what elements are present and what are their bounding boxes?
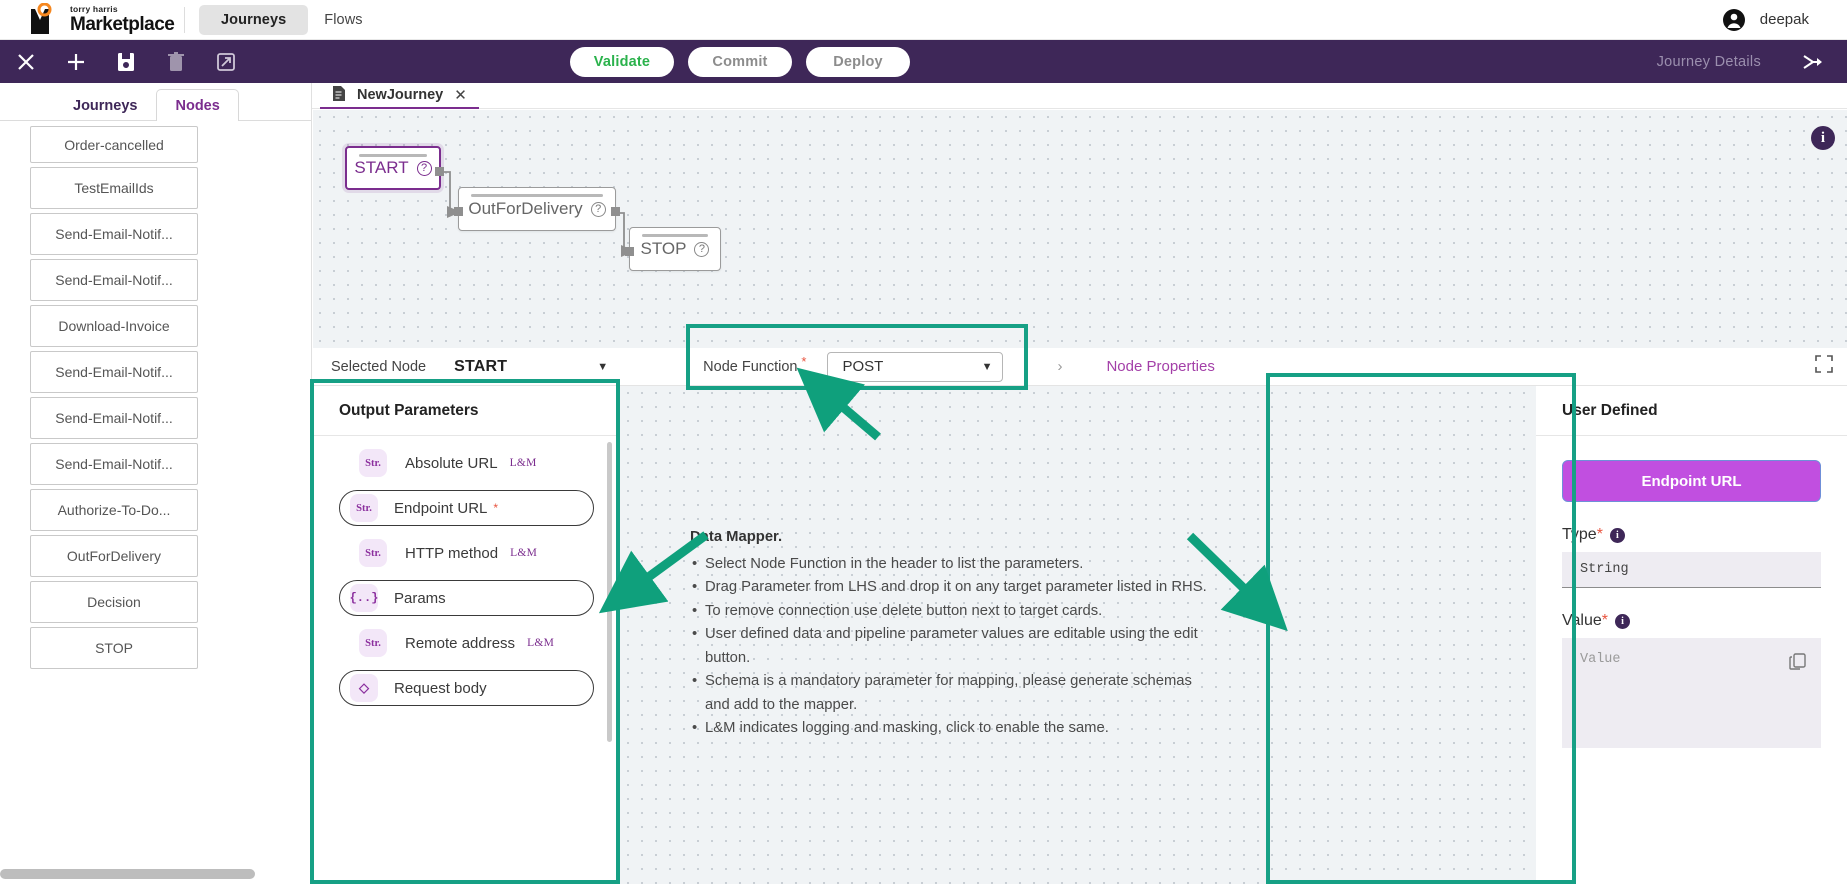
journey-details-label[interactable]: Journey Details (1657, 54, 1761, 70)
question-mark-icon[interactable]: ? (417, 161, 432, 176)
username-label: deepak (1760, 11, 1809, 28)
list-item[interactable]: Send-Email-Notif... (30, 351, 198, 393)
chevron-down-icon[interactable]: ▼ (597, 361, 608, 373)
list-item[interactable]: Send-Email-Notif... (30, 259, 198, 301)
parameter-row-http-method[interactable]: Str. HTTP method L&M (313, 536, 616, 570)
nav-divider (184, 7, 185, 33)
data-mapper-bullet: To remove connection use delete button n… (690, 600, 1220, 624)
selected-node-label: Selected Node (331, 359, 426, 375)
toolbar-action-buttons: Validate Commit Deploy (570, 47, 910, 77)
list-item[interactable]: Send-Email-Notif... (30, 213, 198, 255)
close-icon[interactable] (14, 50, 38, 74)
validate-button[interactable]: Validate (570, 47, 674, 77)
data-mapper-bullet: User defined data and pipeline parameter… (690, 623, 1220, 670)
toolbar-icon-group (14, 50, 238, 74)
app-root: torry harris Marketplace Journeys Flows … (0, 0, 1847, 884)
journey-toolbar: Validate Commit Deploy Journey Details (0, 40, 1847, 83)
endpoint-url-button[interactable]: Endpoint URL (1562, 460, 1821, 502)
tab-label: NewJourney (357, 87, 443, 103)
list-item[interactable]: OutForDelivery (30, 535, 198, 577)
logging-masking-badge[interactable]: L&M (527, 637, 554, 649)
required-asterisk: * (801, 354, 806, 369)
data-mapper-bullet: L&M indicates logging and masking, click… (690, 717, 1220, 741)
list-item[interactable]: Download-Invoice (30, 305, 198, 347)
list-item[interactable]: Authorize-To-Do... (30, 489, 198, 531)
value-textarea[interactable]: Value (1562, 638, 1821, 748)
output-parameters-list[interactable]: Str. Absolute URL L&M Str. Endpoint URL … (313, 436, 616, 884)
output-parameters-scrollbar[interactable] (607, 442, 612, 742)
node-drag-handle[interactable] (359, 154, 427, 157)
list-item[interactable]: Send-Email-Notif... (30, 443, 198, 485)
parameter-name: Remote address (405, 635, 515, 652)
node-label: STOP (641, 239, 687, 259)
flow-node-stop[interactable]: STOP ? (629, 227, 721, 271)
value-label-text: Value (1562, 612, 1602, 630)
required-asterisk: * (1602, 612, 1608, 630)
data-mapper-bullet-list: Select Node Function in the header to li… (690, 553, 1220, 741)
brand-text: torry harris Marketplace (70, 5, 174, 34)
sidebar-horizontal-scrollbar[interactable] (0, 869, 300, 879)
node-input-port[interactable] (625, 247, 634, 256)
nav-tab-flows[interactable]: Flows (308, 5, 384, 35)
parameter-row-endpoint-url[interactable]: Str. Endpoint URL * (339, 490, 594, 526)
data-mapper-bullet: Select Node Function in the header to li… (690, 553, 1220, 577)
mapper-workspace: Output Parameters Str. Absolute URL L&M … (313, 386, 1847, 884)
selected-node-value: START (454, 358, 507, 376)
node-output-port[interactable] (435, 167, 444, 176)
commit-button[interactable]: Commit (688, 47, 792, 77)
parameter-name: Endpoint URL (394, 500, 487, 517)
document-icon (332, 85, 346, 106)
list-item[interactable]: Decision (30, 581, 198, 623)
data-mapper-title: Data Mapper. (690, 526, 1220, 550)
required-asterisk: * (493, 501, 498, 515)
top-navigation-bar: torry harris Marketplace Journeys Flows … (0, 0, 1847, 40)
list-item[interactable]: Order-cancelled (30, 126, 198, 163)
question-mark-icon[interactable]: ? (694, 242, 709, 257)
export-icon[interactable] (214, 50, 238, 74)
left-sidebar: Journeys Nodes Order-cancelled TestEmail… (0, 83, 312, 884)
parameter-name: Absolute URL (405, 455, 498, 472)
logging-masking-badge[interactable]: L&M (510, 457, 537, 469)
list-item[interactable]: STOP (30, 627, 198, 669)
parameter-row-params[interactable]: {..} Params (339, 580, 594, 616)
user-area: deepak (1722, 8, 1809, 32)
brand-subtitle: torry harris (70, 5, 174, 14)
flow-node-outfordelivery[interactable]: OutForDelivery ? (458, 187, 616, 231)
selected-node-bar: Selected Node START ▼ Node Function * PO… (313, 348, 1847, 386)
merge-arrows-icon[interactable] (1801, 50, 1825, 74)
node-label: OutForDelivery (468, 199, 582, 219)
node-drag-handle[interactable] (471, 194, 603, 197)
add-icon[interactable] (64, 50, 88, 74)
brand-logo[interactable]: torry harris Marketplace (28, 3, 178, 37)
parameter-name: Params (394, 590, 446, 607)
parameter-name: HTTP method (405, 545, 498, 562)
parameter-row-remote-address[interactable]: Str. Remote address L&M (313, 626, 616, 660)
info-icon[interactable]: i (1610, 528, 1625, 543)
type-badge-string: Str. (359, 629, 387, 657)
brand-title: Marketplace (70, 15, 174, 34)
marketplace-logo-icon (28, 3, 68, 37)
type-badge-string: Str. (359, 449, 387, 477)
value-label: Value * i (1562, 612, 1847, 630)
sidebar-tab-nodes[interactable]: Nodes (156, 89, 238, 121)
node-output-port[interactable] (611, 207, 620, 216)
tab-newjourney[interactable]: NewJourney ✕ (320, 83, 479, 109)
type-label: Type * i (1562, 526, 1847, 544)
list-item[interactable]: TestEmailIds (30, 167, 198, 209)
sidebar-tab-journeys[interactable]: Journeys (54, 89, 156, 121)
node-function-value: POST (842, 358, 883, 375)
save-icon[interactable] (114, 50, 138, 74)
sidebar-node-list[interactable]: Order-cancelled TestEmailIds Send-Email-… (0, 121, 311, 862)
data-mapper-bullet: Schema is a mandatory parameter for mapp… (690, 670, 1220, 717)
node-drag-handle[interactable] (642, 234, 708, 237)
node-label: START (354, 158, 408, 178)
type-badge-object: {..} (350, 584, 378, 612)
type-value: String (1580, 562, 1629, 577)
output-parameters-panel: Output Parameters Str. Absolute URL L&M … (313, 386, 616, 884)
node-input-port[interactable] (454, 207, 463, 216)
copy-icon[interactable] (1789, 652, 1807, 675)
question-mark-icon[interactable]: ? (591, 202, 606, 217)
sidebar-tabs: Journeys Nodes (0, 83, 311, 120)
type-badge-string: Str. (359, 539, 387, 567)
node-function-label: Node Function * (703, 359, 797, 375)
node-properties-link[interactable]: Node Properties (1106, 358, 1214, 375)
value-placeholder: Value (1580, 652, 1621, 667)
type-label-text: Type (1562, 526, 1597, 544)
chevron-down-icon: ▼ (982, 361, 993, 373)
nav-tab-journeys[interactable]: Journeys (199, 5, 308, 35)
user-defined-panel: User Defined Endpoint URL Type * i Strin… (1536, 386, 1847, 884)
node-function-select[interactable]: POST ▼ (827, 352, 1003, 382)
type-badge-any: ◇ (350, 674, 378, 702)
document-tab-bar: NewJourney ✕ (312, 83, 1847, 109)
data-mapper-bullet: Drag Parameter from LHS and drop it on a… (690, 576, 1220, 600)
account-circle-icon[interactable] (1722, 8, 1746, 32)
user-defined-title: User Defined (1536, 386, 1847, 436)
type-value-field[interactable]: String (1562, 552, 1821, 588)
scrollbar-thumb[interactable] (0, 869, 255, 879)
info-icon[interactable]: i (1811, 126, 1835, 150)
flow-node-start[interactable]: START ? (345, 146, 441, 190)
parameter-row-absolute-url[interactable]: Str. Absolute URL L&M (313, 446, 616, 480)
node-function-text: Node Function (703, 359, 797, 375)
info-icon[interactable]: i (1615, 614, 1630, 629)
output-parameters-title: Output Parameters (313, 386, 616, 436)
flow-canvas[interactable]: START ? OutForDelivery ? STOP ? i (313, 110, 1847, 348)
type-badge-string: Str. (350, 494, 378, 522)
deploy-button[interactable]: Deploy (806, 47, 910, 77)
data-mapper-instructions: Data Mapper. Select Node Function in the… (690, 526, 1220, 741)
delete-icon[interactable] (164, 50, 188, 74)
close-icon[interactable]: ✕ (454, 86, 467, 104)
parameter-row-request-body[interactable]: ◇ Request body (339, 670, 594, 706)
list-item[interactable]: Send-Email-Notif... (30, 397, 198, 439)
toolbar-right-group: Journey Details (1657, 50, 1825, 74)
logging-masking-badge[interactable]: L&M (510, 547, 537, 559)
chevron-right-icon[interactable]: › (1057, 358, 1062, 375)
required-asterisk: * (1597, 526, 1603, 544)
fullscreen-icon[interactable] (1815, 355, 1833, 378)
parameter-name: Request body (394, 680, 487, 697)
